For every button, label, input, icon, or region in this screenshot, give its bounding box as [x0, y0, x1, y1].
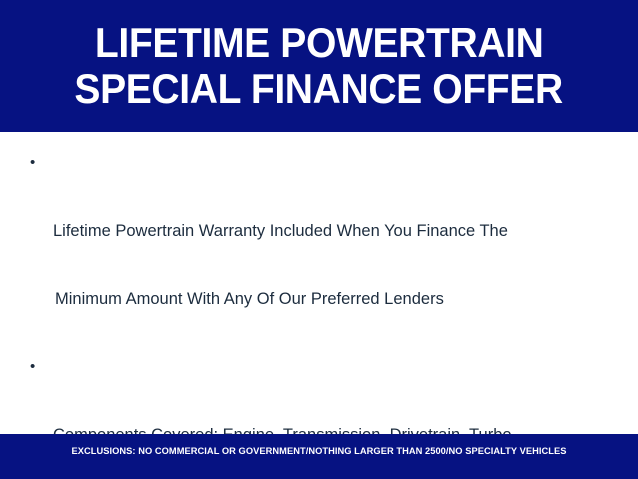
- bullet-dot-icon: •: [30, 350, 40, 384]
- offer-terms-list: • Lifetime Powertrain Warranty Included …: [26, 146, 612, 479]
- list-item: • Lifetime Powertrain Warranty Included …: [26, 146, 612, 350]
- slide-body: • Lifetime Powertrain Warranty Included …: [0, 132, 638, 434]
- page-title-line-1: LIFETIME POWERTRAIN: [95, 20, 544, 66]
- list-item-line-2: Minimum Amount With Any Of Our Preferred…: [53, 282, 612, 316]
- exclusions-note: EXCLUSIONS: NO COMMERCIAL OR GOVERNMENT/…: [71, 445, 566, 457]
- slide-header-band: LIFETIME POWERTRAIN SPECIAL FINANCE OFFE…: [0, 0, 638, 132]
- list-item-line-1: Lifetime Powertrain Warranty Included Wh…: [53, 214, 612, 248]
- bullet-dot-icon: •: [30, 146, 40, 180]
- page-title-line-2: SPECIAL FINANCE OFFER: [75, 66, 563, 112]
- slide-footer-band: EXCLUSIONS: NO COMMERCIAL OR GOVERNMENT/…: [0, 434, 638, 479]
- offer-slide: LIFETIME POWERTRAIN SPECIAL FINANCE OFFE…: [0, 0, 638, 479]
